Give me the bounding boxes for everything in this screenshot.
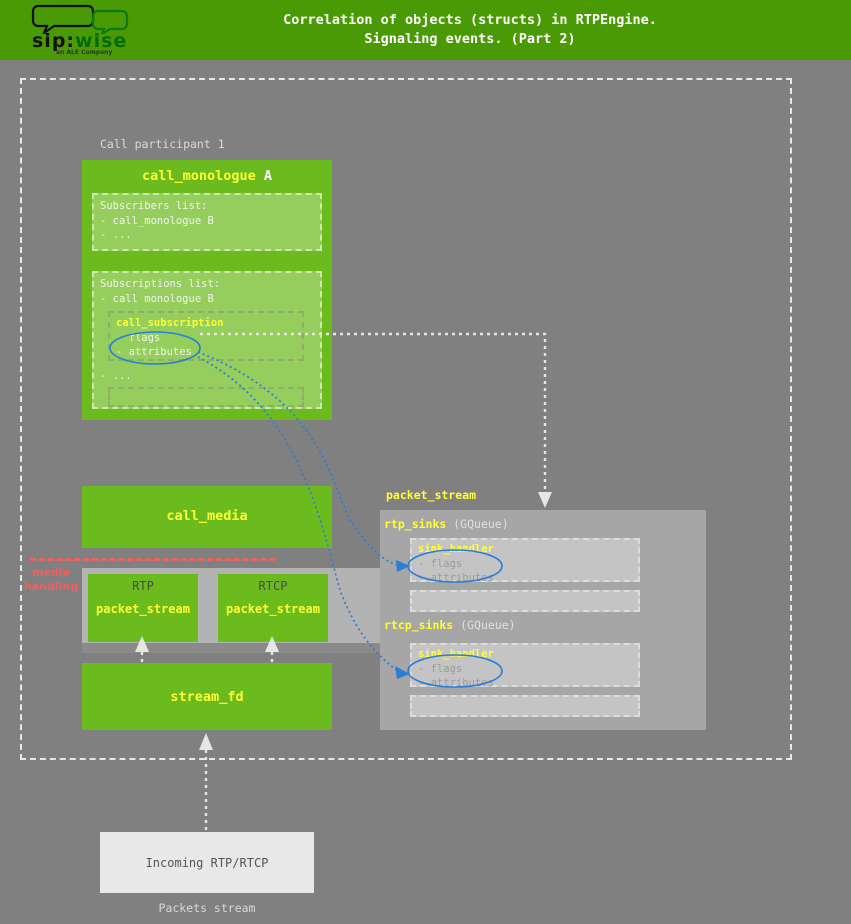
call-monologue-title: call_monologue A: [82, 168, 332, 184]
rtp-struct-label: packet_stream: [88, 602, 198, 616]
rtcp-sink-handler-item-1: - attributes: [418, 676, 632, 691]
call-media-title: call_media: [82, 508, 332, 524]
rtp-sink-handler-row[interactable]: sink_handler - flags - attributes: [410, 538, 640, 582]
subscriptions-heading: Subscriptions list:: [100, 277, 314, 292]
call-monologue-suffix: A: [264, 168, 272, 184]
rtcp-sinks-header: rtcp_sinks (GQueue): [384, 618, 516, 632]
call-subscription-box[interactable]: call_subscription - flags - attributes: [108, 311, 304, 361]
call-subscription-item-0: - flags: [116, 331, 296, 346]
subscribers-item-1: - ...: [100, 228, 314, 243]
call-media-box[interactable]: call_media: [82, 486, 332, 548]
incoming-rtp-rtcp-box: Incoming RTP/RTCP: [100, 832, 314, 893]
media-handling-line-2: handling: [24, 580, 78, 594]
title-line-1: Correlation of objects (structs) in RTPE…: [283, 11, 657, 30]
call-monologue-struct: call_monologue: [142, 168, 256, 184]
subscriptions-more: - ...: [100, 369, 132, 384]
rtp-sink-handler-title: sink_handler: [418, 542, 632, 557]
rtp-packet-stream-box[interactable]: RTP packet_stream: [88, 574, 198, 642]
media-handling-label: media handling: [24, 566, 78, 594]
rtp-kind-label: RTP: [88, 579, 198, 593]
subscriptions-panel: Subscriptions list: - call monologue B c…: [92, 271, 322, 409]
rtcp-sinks-type: (GQueue): [460, 618, 515, 632]
rtp-sinks-name: rtp_sinks: [384, 517, 446, 531]
title-line-2: Signaling events. (Part 2): [364, 30, 575, 49]
rtp-sinks-type: (GQueue): [453, 517, 508, 531]
packets-stream-caption: Packets stream: [100, 901, 314, 915]
rtcp-struct-label: packet_stream: [218, 602, 328, 616]
call-subscription-item-1: - attributes: [116, 345, 296, 360]
rtcp-sink-handler-title: sink_handler: [418, 647, 632, 662]
rtp-sinks-header: rtp_sinks (GQueue): [384, 517, 509, 531]
stream-fd-box[interactable]: stream_fd: [82, 663, 332, 730]
rtcp-sink-handler-item-0: - flags: [418, 662, 632, 677]
subscribers-item-0: - call_monologue B: [100, 214, 314, 229]
packet-stream-box[interactable]: rtp_sinks (GQueue) sink_handler - flags …: [380, 510, 706, 730]
call-subscription-box-empty[interactable]: [108, 387, 304, 407]
logo-tagline: an ALE Company: [56, 49, 112, 56]
packet-stream-label: packet_stream: [386, 488, 476, 502]
rtp-sink-handler-item-1: - attributes: [418, 571, 632, 586]
call-monologue-box[interactable]: call_monologue A Subscribers list: - cal…: [82, 160, 332, 420]
sipwise-logo: sip:wise an ALE Company: [30, 2, 140, 58]
media-band-edge: [82, 643, 380, 653]
subscribers-heading: Subscribers list:: [100, 199, 314, 214]
media-handling-line-1: media: [24, 566, 78, 580]
app-header: sip:wise an ALE Company Correlation of o…: [0, 0, 851, 60]
participant-label: Call participant 1: [100, 137, 225, 151]
rtcp-sink-empty-row[interactable]: [410, 695, 640, 717]
rtcp-sinks-name: rtcp_sinks: [384, 618, 453, 632]
subscribers-panel: Subscribers list: - call_monologue B - .…: [92, 193, 322, 251]
rtp-sink-empty-row[interactable]: [410, 590, 640, 612]
incoming-label: Incoming RTP/RTCP: [146, 856, 269, 870]
page-title: Correlation of objects (structs) in RTPE…: [170, 0, 770, 60]
rtcp-packet-stream-box[interactable]: RTCP packet_stream: [218, 574, 328, 642]
rtcp-kind-label: RTCP: [218, 579, 328, 593]
rtcp-sink-handler-row[interactable]: sink_handler - flags - attributes: [410, 643, 640, 687]
rtp-sink-handler-item-0: - flags: [418, 557, 632, 572]
call-subscription-title: call_subscription: [116, 316, 296, 331]
media-handling-divider: [30, 558, 275, 561]
subscriptions-item: - call monologue B: [100, 292, 314, 307]
stream-fd-title: stream_fd: [82, 689, 332, 705]
